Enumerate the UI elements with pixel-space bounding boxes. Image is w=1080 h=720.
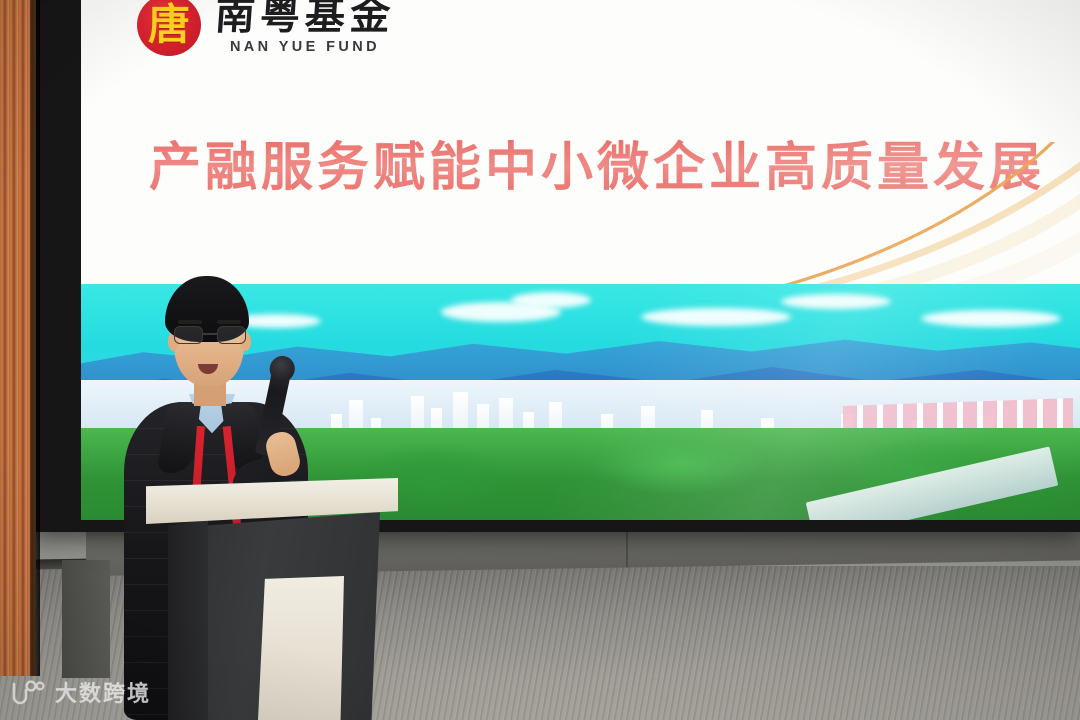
cloud bbox=[641, 308, 791, 326]
podium-left-edge bbox=[168, 518, 208, 720]
riser-left-return bbox=[62, 560, 110, 678]
eyeglasses-icon bbox=[173, 326, 247, 344]
seal-character: 唐 bbox=[148, 4, 190, 46]
brand-name-cn: 南粤基金 bbox=[214, 0, 397, 37]
tang-seal-icon: 唐 bbox=[137, 0, 201, 56]
eyebrow-right bbox=[217, 320, 241, 324]
brand-lockup: 南粤基金 NAN YUE FUND bbox=[215, 0, 395, 55]
podium-front-panel bbox=[258, 576, 344, 720]
dashu-kuajing-logo-icon bbox=[10, 678, 46, 706]
microphone-head bbox=[267, 354, 297, 385]
wall-shadow bbox=[30, 0, 40, 676]
lens-left bbox=[174, 326, 203, 344]
cloud bbox=[781, 294, 891, 309]
cloud bbox=[921, 310, 1061, 327]
lens-right bbox=[217, 326, 246, 344]
eyebrow-left bbox=[178, 320, 202, 324]
presentation-scene: 唐 南粤基金 NAN YUE FUND 产融服务赋能中小微企业高质量发展 bbox=[0, 0, 1080, 720]
slide-title: 产融服务赋能中小微企业高质量发展 bbox=[81, 125, 1080, 200]
brand-name-en: NAN YUE FUND bbox=[230, 39, 380, 55]
speaking-podium bbox=[146, 478, 398, 720]
watermark-text: 大数跨境 bbox=[55, 676, 151, 708]
glasses-bridge bbox=[203, 333, 217, 335]
watermark: 大数跨境 bbox=[10, 676, 151, 708]
slide-logo: 唐 南粤基金 NAN YUE FUND bbox=[137, 0, 395, 56]
cloud bbox=[511, 292, 591, 308]
